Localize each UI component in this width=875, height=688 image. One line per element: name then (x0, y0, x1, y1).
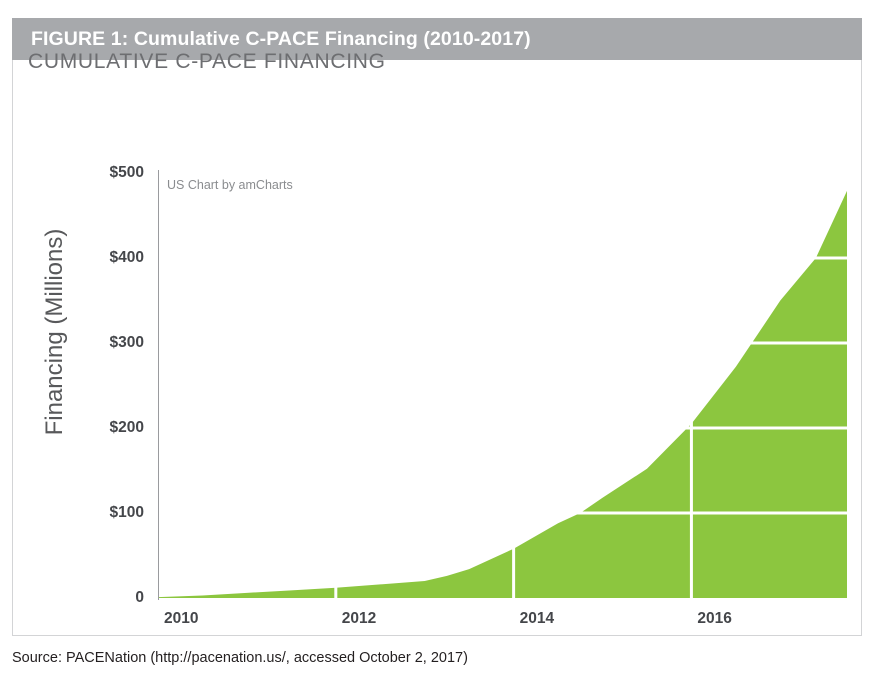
y-tick-label-400: $400 (64, 249, 144, 267)
y-tick-label-300: $300 (64, 334, 144, 352)
figure-container: FIGURE 1: Cumulative C-PACE Financing (2… (12, 18, 862, 636)
area-chart-svg (12, 18, 862, 636)
x-tick-label-2010: 2010 (164, 610, 198, 628)
x-tick-label-2012: 2012 (342, 610, 376, 628)
y-tick-label-100: $100 (64, 504, 144, 522)
source-caption: Source: PACENation (http://pacenation.us… (12, 650, 468, 666)
chart-watermark-label: US Chart by amCharts (167, 178, 293, 192)
y-axis-line (158, 170, 159, 600)
plot-area: US Chart by amCharts $500$400$300$200$10… (12, 18, 862, 636)
y-tick-label-500: $500 (64, 164, 144, 182)
y-tick-label-200: $200 (64, 419, 144, 437)
area-series-path (158, 191, 847, 598)
x-tick-label-2014: 2014 (520, 610, 554, 628)
x-tick-label-2016: 2016 (697, 610, 731, 628)
y-tick-label-0: 0 (64, 589, 144, 607)
